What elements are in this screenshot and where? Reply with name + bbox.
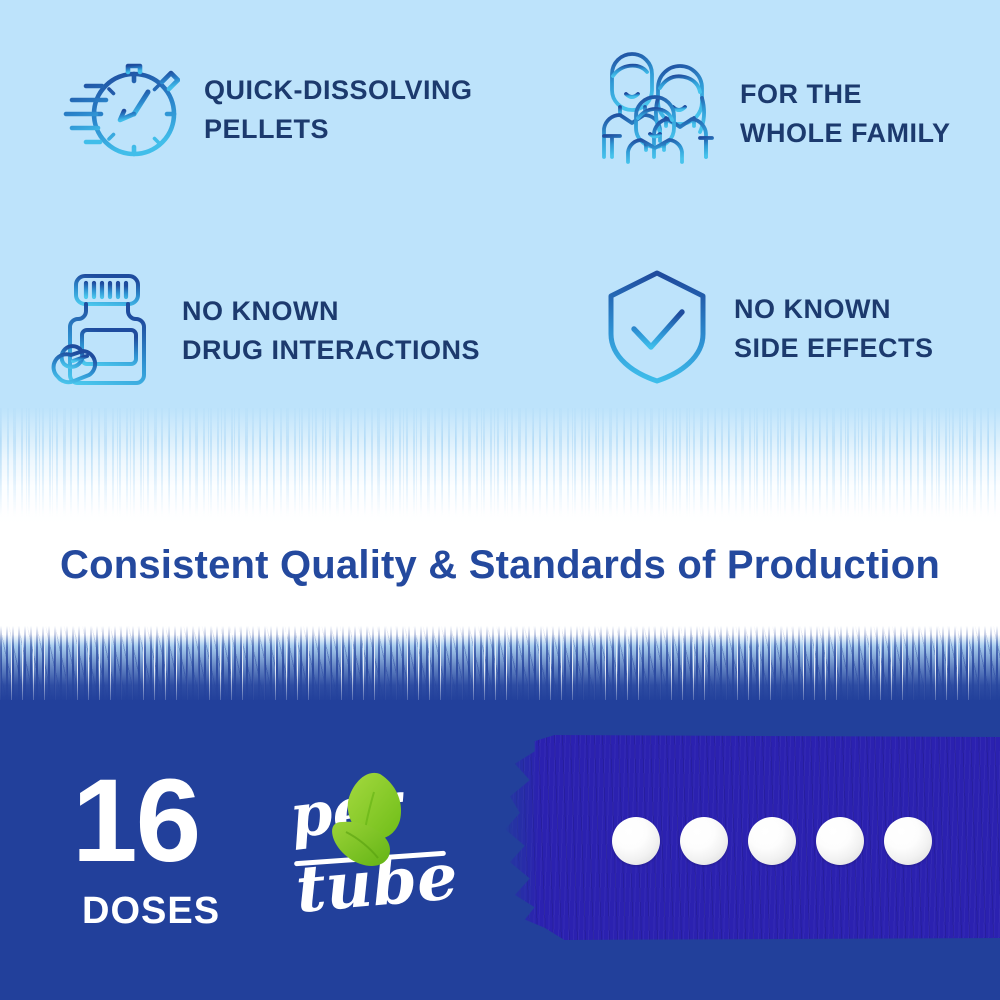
- doses-unit-label: DOSES: [82, 890, 220, 933]
- pellet-sphere-icon: [748, 817, 796, 865]
- headline-strip: Consistent Quality & Standards of Produc…: [0, 522, 1000, 608]
- shield-check-icon: [604, 266, 710, 391]
- pellet-sphere-icon: [612, 817, 660, 865]
- pellet-sphere-icon: [816, 817, 864, 865]
- page-headline: Consistent Quality & Standards of Produc…: [60, 543, 940, 588]
- feature-label: NO KNOWN DRUG INTERACTIONS: [182, 292, 480, 369]
- top-brush-fade-band: [0, 408, 1000, 526]
- feature-label: FOR THE WHOLE FAMILY: [740, 75, 951, 152]
- feature-label: NO KNOWN SIDE EFFECTS: [734, 290, 934, 367]
- family-icon: [600, 52, 718, 175]
- doses-count-block: 16 DOSES per tube: [72, 762, 492, 942]
- stopwatch-icon: [62, 52, 180, 167]
- feature-for-the-whole-family: FOR THE WHOLE FAMILY: [600, 52, 951, 175]
- pellet-sphere-icon: [884, 817, 932, 865]
- pill-bottle-icon: [46, 268, 164, 393]
- pellets-row: [612, 810, 932, 872]
- feature-no-known-drug-interactions: NO KNOWN DRUG INTERACTIONS: [46, 268, 480, 393]
- brush-texture: [0, 408, 1000, 526]
- features-panel: QUICK-DISSOLVING PELLETS: [0, 0, 1000, 440]
- doses-count: 16: [72, 762, 199, 880]
- feature-label: QUICK-DISSOLVING PELLETS: [204, 71, 473, 148]
- mint-leaf-icon: [322, 772, 418, 881]
- infographic-page: QUICK-DISSOLVING PELLETS: [0, 0, 1000, 1000]
- feature-quick-dissolving-pellets: QUICK-DISSOLVING PELLETS: [62, 52, 473, 167]
- feature-no-known-side-effects: NO KNOWN SIDE EFFECTS: [604, 266, 934, 391]
- pellet-sphere-icon: [680, 817, 728, 865]
